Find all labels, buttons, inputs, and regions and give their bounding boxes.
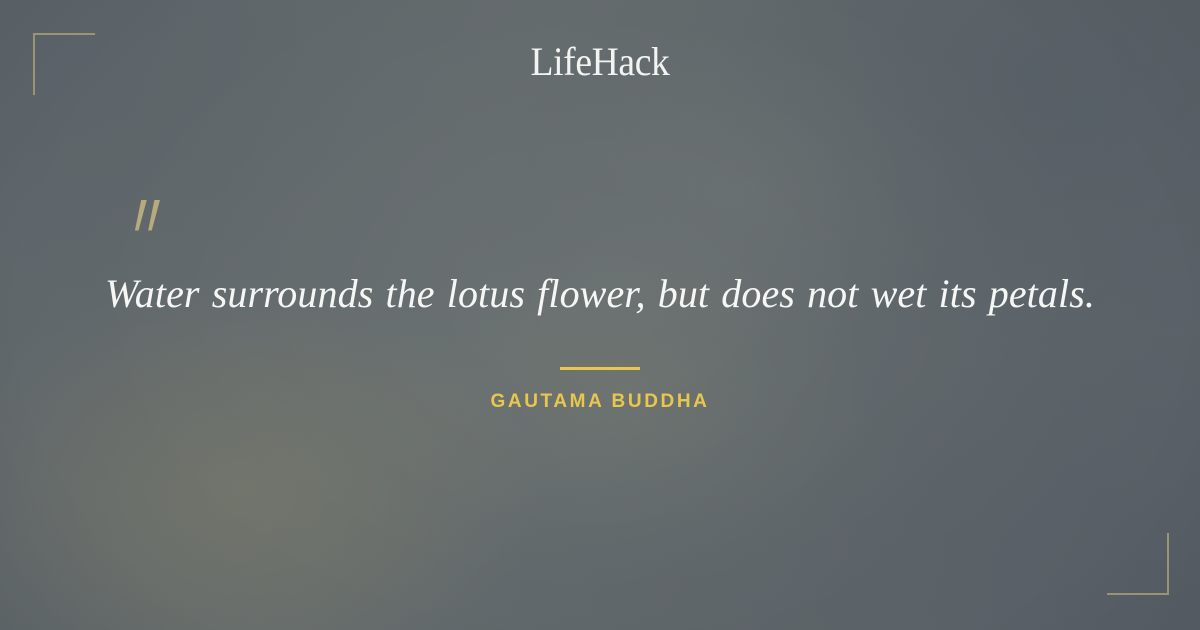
gold-divider xyxy=(560,367,640,370)
divider-wrap xyxy=(0,357,1200,375)
lifehack-logo[interactable]: LifeHack xyxy=(36,40,1164,84)
double-quote-icon xyxy=(131,196,177,242)
quote-text: Water surrounds the lotus flower, but do… xyxy=(60,268,1140,320)
quote-author: GAUTAMA BUDDHA xyxy=(0,390,1200,414)
corner-bracket-bottom-right-icon xyxy=(1107,533,1169,595)
quote-card: LifeHack Water surrounds the lotus flowe… xyxy=(0,0,1200,630)
